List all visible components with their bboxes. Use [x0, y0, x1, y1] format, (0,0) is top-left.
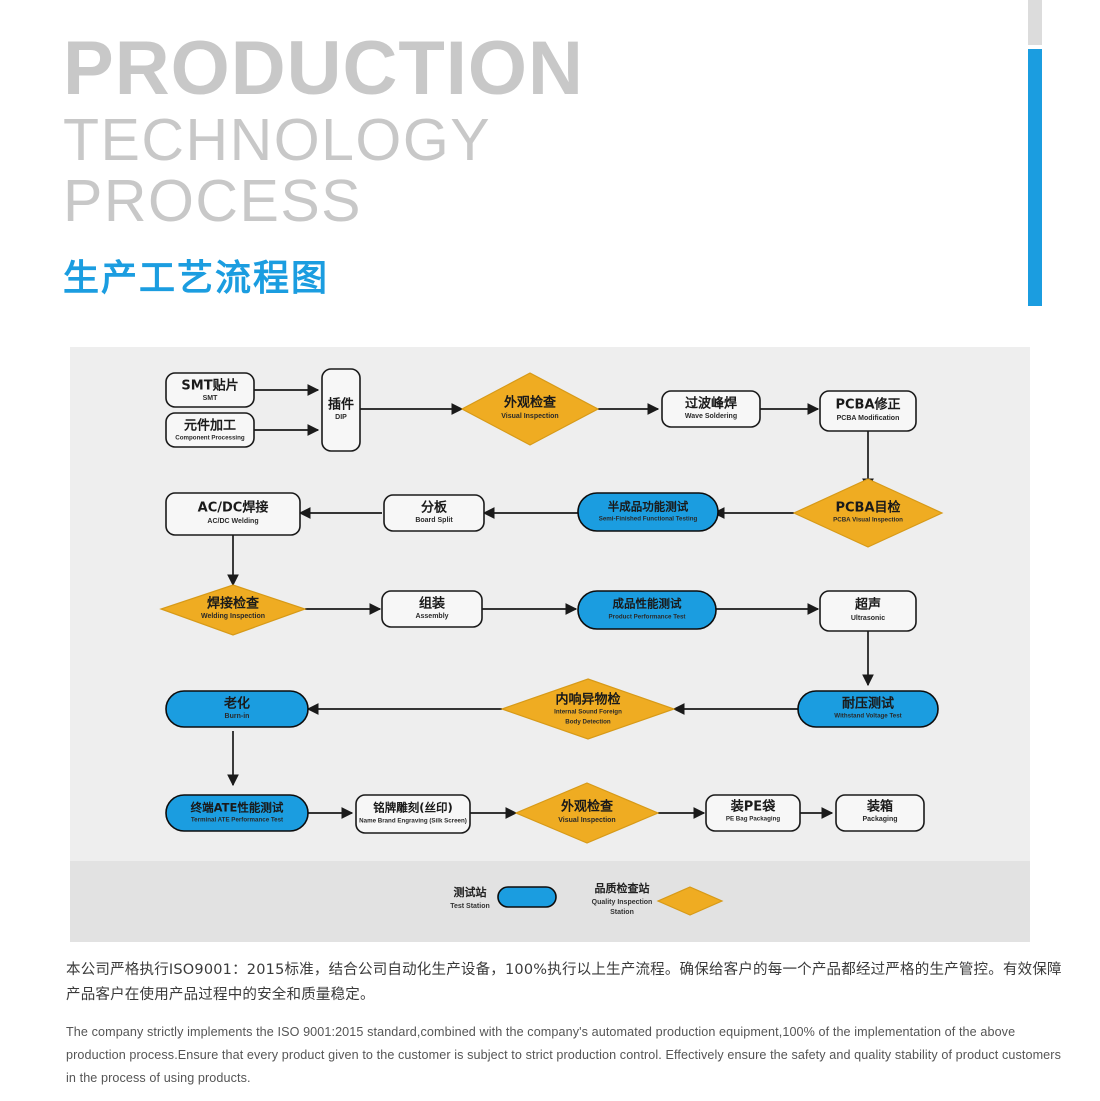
legend-quality-station-label-en2: Station — [610, 909, 634, 916]
legend-quality-station-swatch — [658, 887, 722, 915]
node-acdc-welding[interactable]: AC/DC焊接 AC/DC Welding — [166, 493, 300, 535]
node-component-processing[interactable]: 元件加工 Component Processing — [166, 413, 254, 447]
legend-svg: 测试站 Test Station 品质检查站 Quality Inspectio… — [70, 861, 1030, 942]
node-pe-bag-packaging-label-en: PE Bag Packaging — [726, 816, 781, 823]
node-name-brand-engraving[interactable]: 铭牌雕刻(丝印) Name Brand Engraving (Silk Scre… — [356, 795, 470, 833]
node-internal-sound-foreign-body-detection[interactable]: 内响异物检 Internal Sound Foreign Body Detect… — [502, 679, 674, 739]
node-component-processing-label-en: Component Processing — [175, 435, 245, 442]
node-terminal-ate-performance-test-label-en: Terminal ATE Performance Test — [191, 817, 283, 824]
legend-quality-station-label-en: Quality Inspection — [592, 899, 653, 906]
legend-panel: 测试站 Test Station 品质检查站 Quality Inspectio… — [70, 861, 1030, 942]
node-semi-finished-functional-testing[interactable]: 半成品功能测试 Semi-Finished Functional Testing — [578, 493, 718, 531]
node-withstand-voltage-test[interactable]: 耐压测试 Withstand Voltage Test — [798, 691, 938, 727]
node-pcba-visual-inspection-label-cn: PCBA目检 — [835, 500, 900, 516]
node-visual-inspection-2[interactable]: 外观检查 Visual Inspection — [516, 783, 658, 843]
node-pcba-visual-inspection-label-en: PCBA Visual Inspection — [833, 517, 903, 524]
node-board-split-label-cn: 分板 — [421, 500, 448, 516]
node-dip-label-cn: 插件 — [328, 397, 354, 413]
node-visual-inspection-1-label-en: Visual Inspection — [501, 413, 558, 420]
node-visual-inspection-1-label-cn: 外观检查 — [503, 395, 557, 411]
node-internal-sound-foreign-body-detection-label-en2: Body Detection — [565, 719, 611, 726]
title-chinese: 生产工艺流程图 — [63, 249, 584, 301]
legend-test-station-swatch — [498, 887, 556, 907]
node-acdc-welding-label-cn: AC/DC焊接 — [198, 500, 269, 516]
node-welding-inspection-label-en: Welding Inspection — [201, 613, 265, 620]
accent-bar-blue — [1028, 49, 1042, 306]
accent-bar-gray — [1028, 0, 1042, 45]
node-ultrasonic-label-cn: 超声 — [855, 597, 881, 613]
legend-item-test-station: 测试站 Test Station — [450, 885, 556, 910]
node-burn-in-label-cn: 老化 — [223, 696, 250, 712]
node-visual-inspection-2-label-en: Visual Inspection — [558, 817, 615, 824]
node-name-brand-engraving-label-cn: 铭牌雕刻(丝印) — [373, 801, 453, 815]
node-burn-in[interactable]: 老化 Burn-in — [166, 691, 308, 727]
node-dip[interactable]: 插件 DIP — [322, 369, 360, 451]
node-ultrasonic-label-en: Ultrasonic — [851, 615, 885, 622]
node-terminal-ate-performance-test-label-cn: 终端ATE性能测试 — [191, 801, 284, 815]
node-visual-inspection-1[interactable]: 外观检查 Visual Inspection — [462, 373, 598, 445]
title-line-3: PROCESS — [63, 172, 584, 231]
node-visual-inspection-2-label-cn: 外观检查 — [560, 799, 614, 815]
node-wave-soldering-label-en: Wave Soldering — [685, 413, 737, 420]
title-line-1: PRODUCTION — [63, 33, 584, 105]
node-pcba-modification-label-cn: PCBA修正 — [835, 397, 900, 413]
node-smt-label-cn: SMT贴片 — [181, 378, 238, 394]
footer-paragraph-cn: 本公司严格执行ISO9001：2015标准，结合公司自动化生产设备，100%执行… — [66, 958, 1066, 1009]
node-semi-finished-functional-testing-label-cn: 半成品功能测试 — [608, 500, 689, 514]
node-semi-finished-functional-testing-label-en: Semi-Finished Functional Testing — [599, 516, 698, 523]
node-withstand-voltage-test-label-en: Withstand Voltage Test — [834, 713, 901, 720]
title-line-2: TECHNOLOGY — [63, 111, 584, 170]
legend-test-station-label-en: Test Station — [450, 903, 490, 910]
node-internal-sound-foreign-body-detection-label-en: Internal Sound Foreign — [554, 709, 622, 716]
node-assembly-label-en: Assembly — [415, 613, 448, 620]
legend-test-station-label-cn: 测试站 — [454, 885, 487, 899]
node-assembly-label-cn: 组装 — [419, 596, 445, 612]
node-component-processing-label-cn: 元件加工 — [184, 418, 236, 434]
footer-text-block: 本公司严格执行ISO9001：2015标准，结合公司自动化生产设备，100%执行… — [66, 958, 1066, 1091]
node-burn-in-label-en: Burn-in — [225, 713, 250, 720]
node-dip-label-en: DIP — [335, 414, 347, 421]
node-acdc-welding-label-en: AC/DC Welding — [207, 518, 258, 525]
node-pe-bag-packaging[interactable]: 装PE袋 PE Bag Packaging — [706, 795, 800, 831]
node-packaging-label-en: Packaging — [862, 816, 897, 823]
node-pcba-modification-label-en: PCBA Modification — [837, 415, 900, 422]
flowchart-panel: SMT贴片 SMT 元件加工 Component Processing 插件 D… — [70, 347, 1030, 861]
node-packaging-label-cn: 装箱 — [866, 799, 893, 815]
node-product-performance-test[interactable]: 成品性能测试 Product Performance Test — [578, 591, 716, 629]
page-header: PRODUCTION TECHNOLOGY PROCESS 生产工艺流程图 — [63, 33, 584, 301]
node-packaging[interactable]: 装箱 Packaging — [836, 795, 924, 831]
legend-quality-station-label-cn: 品质检查站 — [595, 881, 650, 895]
node-withstand-voltage-test-label-cn: 耐压测试 — [842, 696, 894, 712]
node-pcba-visual-inspection[interactable]: PCBA目检 PCBA Visual Inspection — [794, 479, 942, 547]
node-product-performance-test-label-cn: 成品性能测试 — [613, 597, 682, 611]
node-smt-label-en: SMT — [203, 395, 219, 402]
node-welding-inspection-label-cn: 焊接检查 — [207, 596, 260, 612]
node-assembly[interactable]: 组装 Assembly — [382, 591, 482, 627]
footer-paragraph-en: The company strictly implements the ISO … — [66, 1021, 1066, 1091]
node-smt[interactable]: SMT贴片 SMT — [166, 373, 254, 407]
node-wave-soldering-label-cn: 过波峰焊 — [685, 396, 737, 412]
connector-group — [233, 390, 868, 813]
legend-item-quality-inspection-station: 品质检查站 Quality Inspection Station — [592, 881, 722, 916]
flowchart-svg: SMT贴片 SMT 元件加工 Component Processing 插件 D… — [70, 347, 1030, 861]
node-pe-bag-packaging-label-cn: 装PE袋 — [730, 799, 776, 815]
node-welding-inspection[interactable]: 焊接检查 Welding Inspection — [161, 585, 305, 635]
node-board-split[interactable]: 分板 Board Split — [384, 495, 484, 531]
node-terminal-ate-performance-test[interactable]: 终端ATE性能测试 Terminal ATE Performance Test — [166, 795, 308, 831]
node-name-brand-engraving-label-en: Name Brand Engraving (Silk Screen) — [359, 818, 467, 825]
node-board-split-label-en: Board Split — [415, 517, 453, 524]
node-wave-soldering[interactable]: 过波峰焊 Wave Soldering — [662, 391, 760, 427]
node-product-performance-test-label-en: Product Performance Test — [609, 614, 686, 621]
node-internal-sound-foreign-body-detection-label-cn: 内响异物检 — [555, 692, 620, 708]
node-pcba-modification[interactable]: PCBA修正 PCBA Modification — [820, 391, 916, 431]
node-ultrasonic[interactable]: 超声 Ultrasonic — [820, 591, 916, 631]
